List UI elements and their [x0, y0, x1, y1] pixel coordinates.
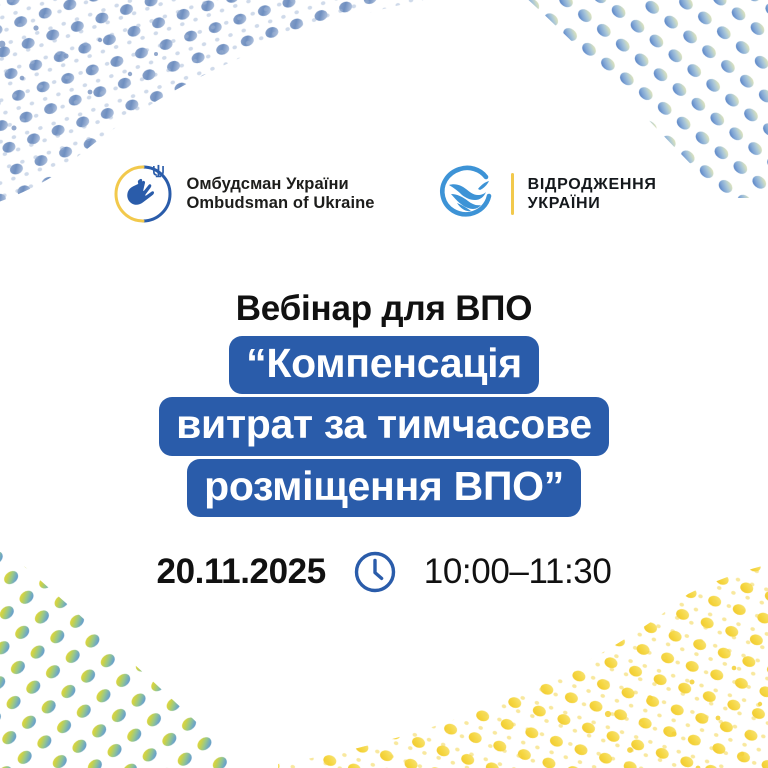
logo-divider — [511, 173, 514, 215]
ombudsman-name-en: Ombudsman of Ukraine — [186, 194, 374, 213]
event-meta-row: 20.11.2025 10:00–11:30 — [0, 549, 768, 595]
ombudsman-hand-dove-emblem-icon — [111, 162, 175, 226]
title-badge-line-1: “Компенсація — [229, 336, 539, 394]
ombudsman-logo: Омбудсман України Ombudsman of Ukraine — [111, 162, 374, 226]
event-time: 10:00–11:30 — [424, 552, 612, 592]
webinar-title: “Компенсація витрат за тимчасове розміще… — [0, 336, 768, 517]
vidrodzhennya-line-2: УКРАЇНИ — [528, 194, 657, 213]
ombudsman-wordmark: Омбудсман України Ombudsman of Ukraine — [186, 175, 374, 213]
title-badge-line-2: витрат за тимчасове — [159, 397, 609, 455]
logo-row: Омбудсман України Ombudsman of Ukraine В… — [0, 162, 768, 226]
vidrodzhennya-line-1: ВІДРОДЖЕННЯ — [528, 175, 657, 194]
vidrodzhennya-wordmark: ВІДРОДЖЕННЯ УКРАЇНИ — [528, 175, 657, 213]
clock-icon — [352, 549, 398, 595]
poster-canvas: Омбудсман України Ombudsman of Ukraine В… — [0, 0, 768, 768]
title-badge-line-3: розміщення ВПО” — [187, 459, 581, 517]
event-date: 20.11.2025 — [157, 552, 326, 592]
webinar-kicker: Вебінар для ВПО — [0, 289, 768, 329]
bird-in-circle-emblem-icon — [437, 163, 499, 225]
vidrodzhennya-logo: ВІДРОДЖЕННЯ УКРАЇНИ — [437, 163, 657, 225]
ombudsman-name-uk: Омбудсман України — [186, 175, 374, 194]
